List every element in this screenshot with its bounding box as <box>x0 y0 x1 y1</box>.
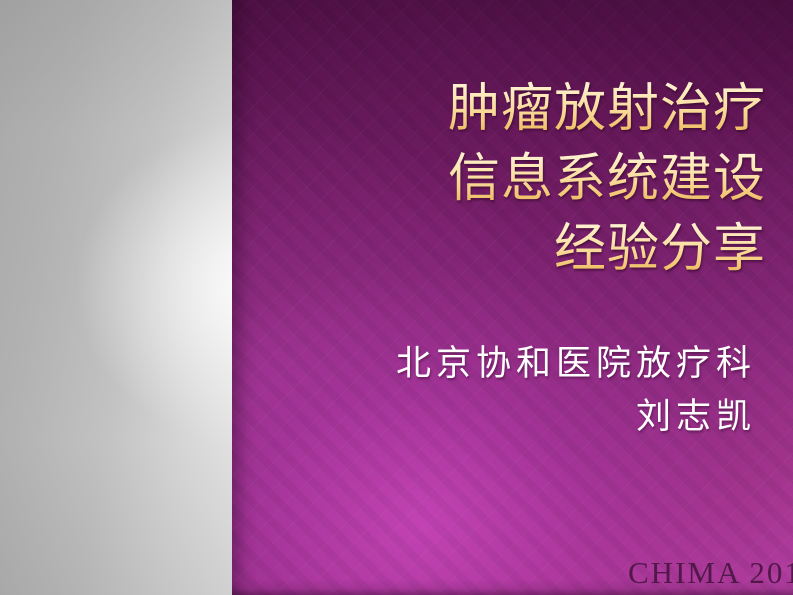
title-line-3: 经验分享 <box>242 214 766 284</box>
title-line-1: 肿瘤放射治疗 <box>242 74 766 144</box>
conference-footer: CHIMA 2019 <box>628 556 793 590</box>
subtitle-presenter-name: 刘志凯 <box>242 391 756 444</box>
title-slide: 肿瘤放射治疗 信息系统建设 经验分享 北京协和医院放疗科 刘志凯 CHIMA 2… <box>0 0 793 595</box>
subtitle-affiliation: 北京协和医院放疗科 <box>242 338 756 391</box>
footer-label: CHIMA 2019 <box>628 556 793 590</box>
left-panel-shading <box>0 0 232 595</box>
left-grey-panel <box>0 0 232 595</box>
title-line-2: 信息系统建设 <box>242 144 766 214</box>
page-title: 肿瘤放射治疗 信息系统建设 经验分享 <box>242 74 766 284</box>
subtitle: 北京协和医院放疗科 刘志凯 <box>242 338 756 444</box>
